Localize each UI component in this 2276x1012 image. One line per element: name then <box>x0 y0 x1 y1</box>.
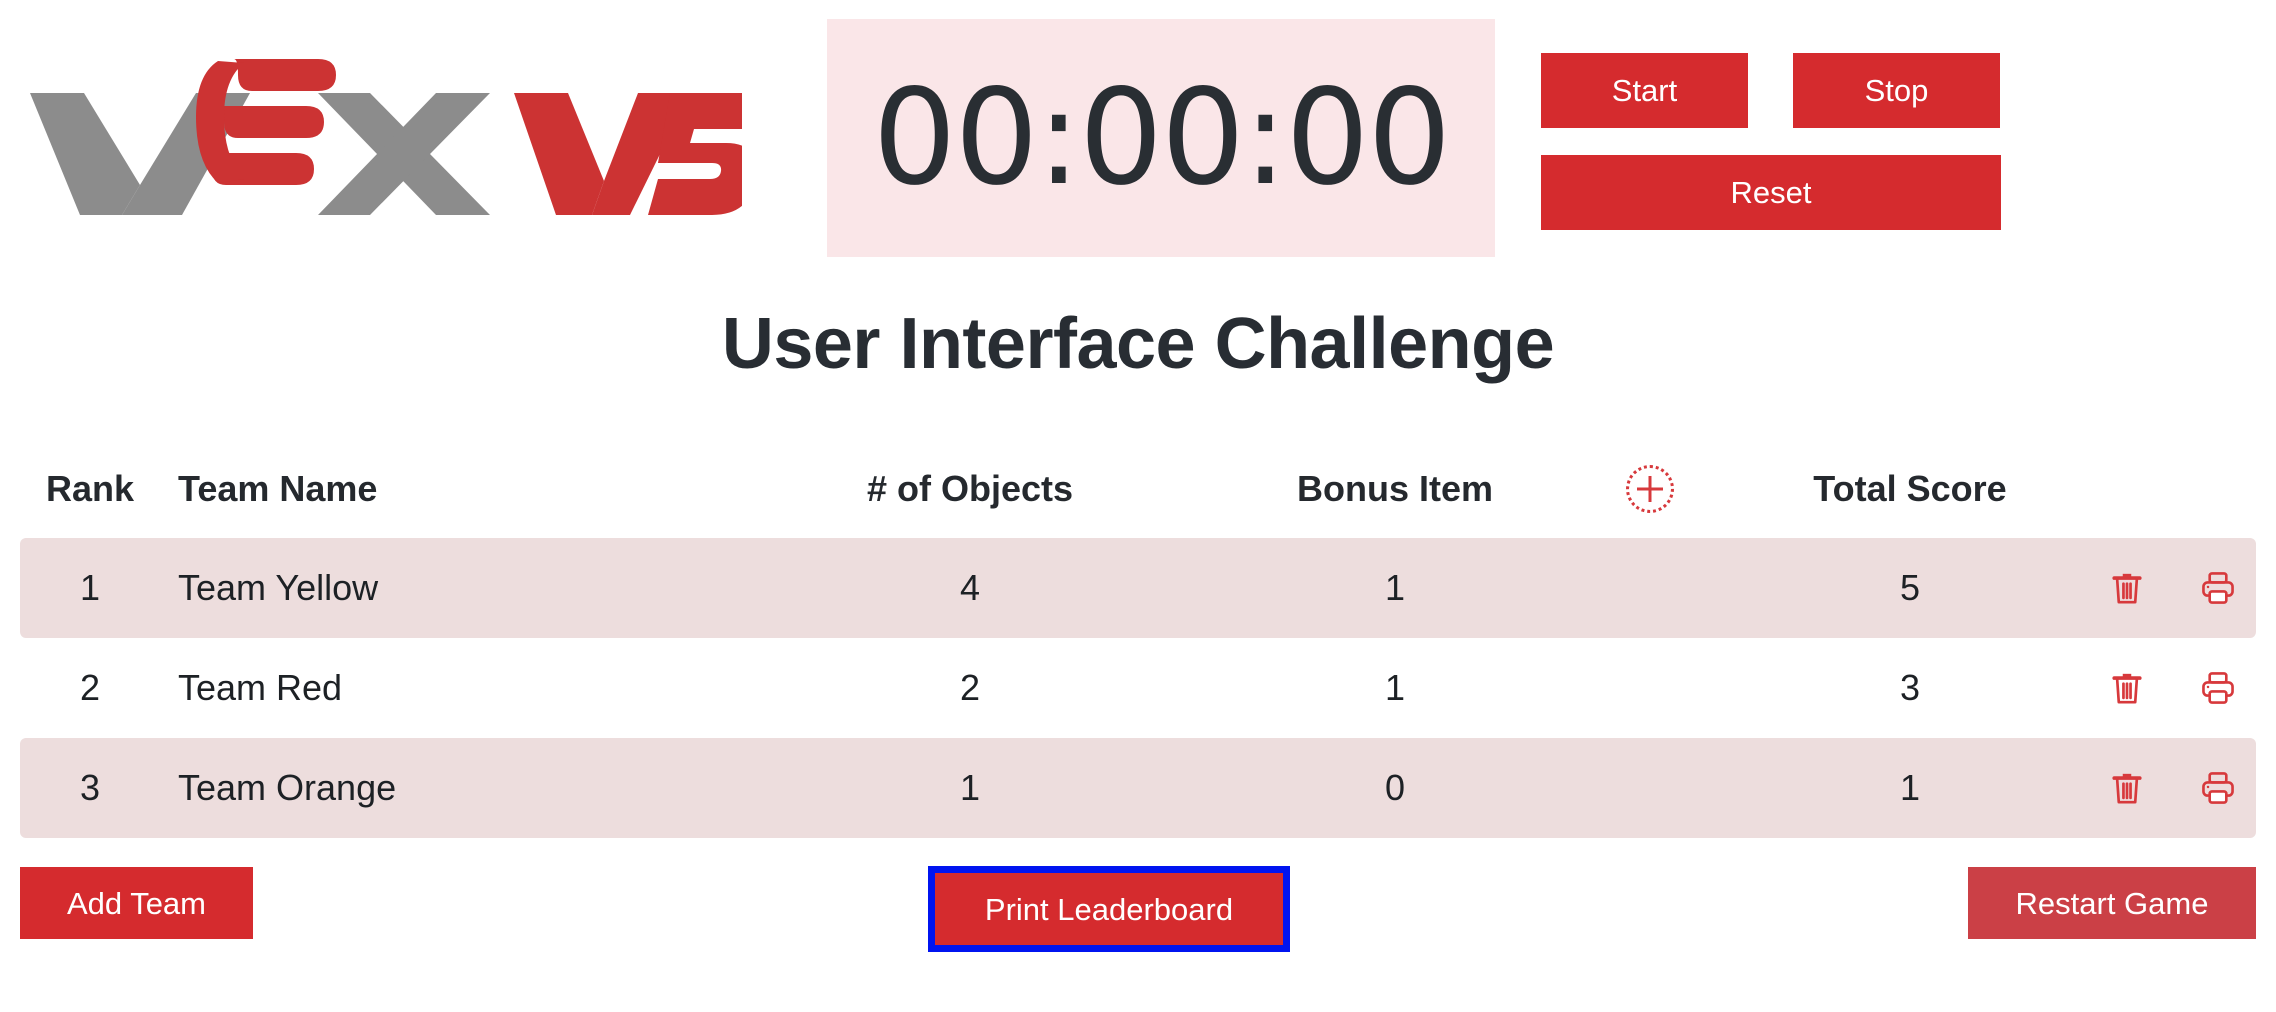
cell-objects: 4 <box>720 567 1220 609</box>
add-team-button[interactable]: Add Team <box>20 867 253 939</box>
plus-circle-dotted-icon[interactable] <box>1626 465 1674 513</box>
header-bonus: Bonus Item <box>1220 468 1570 510</box>
app-root: 00:00:00 Start Stop Reset User Interface… <box>0 0 2276 1012</box>
cell-rank: 2 <box>20 667 160 709</box>
table-row[interactable]: 1 Team Yellow 4 1 5 <box>20 538 2256 638</box>
trash-icon[interactable] <box>2110 769 2144 807</box>
cell-bonus: 0 <box>1220 767 1570 809</box>
cell-rank: 3 <box>20 767 160 809</box>
header-rank: Rank <box>20 468 160 510</box>
row-actions <box>2090 769 2256 807</box>
cell-objects: 1 <box>720 767 1220 809</box>
cell-total: 1 <box>1730 767 2090 809</box>
vex-v5-logo <box>22 45 742 215</box>
cell-total: 3 <box>1730 667 2090 709</box>
timer-display: 00:00:00 <box>827 19 1495 257</box>
header-objects: # of Objects <box>720 468 1220 510</box>
reset-button[interactable]: Reset <box>1541 155 2001 230</box>
row-actions <box>2090 569 2256 607</box>
print-leaderboard-focus-ring: Print Leaderboard <box>928 866 1290 952</box>
leaderboard-table: Rank Team Name # of Objects Bonus Item T… <box>0 440 2276 838</box>
table-header-row: Rank Team Name # of Objects Bonus Item T… <box>20 440 2256 538</box>
row-actions <box>2090 669 2256 707</box>
header-bar: 00:00:00 Start Stop Reset <box>0 0 2276 270</box>
cell-rank: 1 <box>20 567 160 609</box>
page-title: User Interface Challenge <box>0 303 2276 385</box>
cell-team-name: Team Orange <box>160 767 720 809</box>
printer-icon[interactable] <box>2200 769 2236 807</box>
cell-objects: 2 <box>720 667 1220 709</box>
trash-icon[interactable] <box>2110 669 2144 707</box>
cell-bonus: 1 <box>1220 567 1570 609</box>
cell-total: 5 <box>1730 567 2090 609</box>
stop-button[interactable]: Stop <box>1793 53 2000 128</box>
trash-icon[interactable] <box>2110 569 2144 607</box>
cell-team-name: Team Red <box>160 667 720 709</box>
print-leaderboard-button[interactable]: Print Leaderboard <box>933 871 1285 947</box>
start-button[interactable]: Start <box>1541 53 1748 128</box>
restart-game-button[interactable]: Restart Game <box>1968 867 2256 939</box>
printer-icon[interactable] <box>2200 669 2236 707</box>
add-column-cell <box>1570 465 1730 513</box>
cell-team-name: Team Yellow <box>160 567 720 609</box>
table-row[interactable]: 3 Team Orange 1 0 1 <box>20 738 2256 838</box>
cell-bonus: 1 <box>1220 667 1570 709</box>
table-row[interactable]: 2 Team Red 2 1 3 <box>20 638 2256 738</box>
header-total: Total Score <box>1730 468 2090 510</box>
header-team-name: Team Name <box>160 468 720 510</box>
timer-value: 00:00:00 <box>873 72 1450 204</box>
printer-icon[interactable] <box>2200 569 2236 607</box>
